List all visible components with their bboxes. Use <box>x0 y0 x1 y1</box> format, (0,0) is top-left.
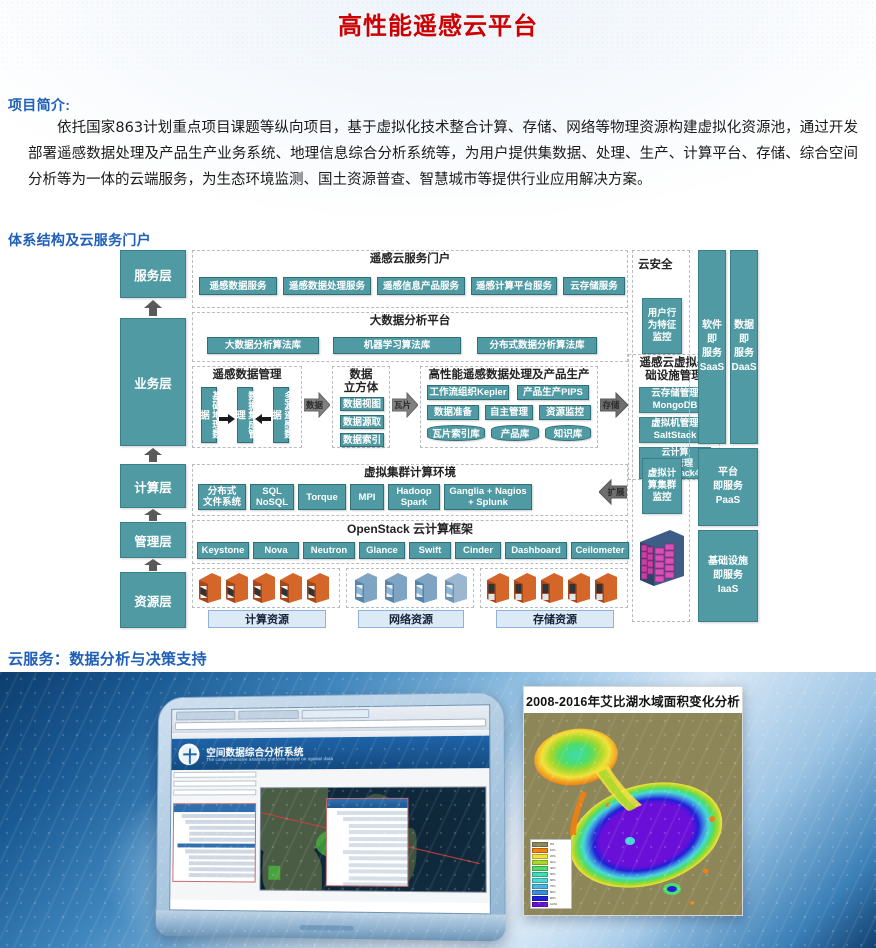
site-body <box>170 768 490 903</box>
openstack-chip-7[interactable]: Ceilometer <box>571 542 629 559</box>
daas-l2: 即 <box>739 333 749 347</box>
openstack-chip-0[interactable]: Keystone <box>197 542 249 559</box>
arrow-store: 存储 <box>600 392 628 418</box>
dialog-tree-row[interactable] <box>349 830 408 834</box>
hpc-title: 高性能遥感数据处理及产品生产 <box>421 367 597 382</box>
layer-tree-item[interactable] <box>189 832 255 836</box>
layer-management: 管理层 <box>120 522 186 558</box>
server-icon-compute-2 <box>253 573 275 608</box>
browser-chrome <box>172 705 489 739</box>
cluster-chip-5-l2: + Splunk <box>468 497 508 508</box>
layer-tree-header <box>174 804 255 812</box>
firewall-icon <box>640 530 684 591</box>
server-icon-storage-4 <box>595 573 617 608</box>
layer-tree-item-selected[interactable] <box>178 843 255 847</box>
server-icon-compute-4 <box>307 573 329 608</box>
filter-field-0[interactable] <box>173 772 256 778</box>
server-icon-network-1 <box>385 573 407 608</box>
layer-tree-item[interactable] <box>189 873 255 877</box>
site-header: 空间数据综合分析系统 The comprehensive analysis pl… <box>172 736 490 770</box>
layer-arrow-up-3 <box>142 509 164 521</box>
filter-field-1[interactable] <box>173 780 256 786</box>
arrow-extend: 扩展 <box>599 479 627 505</box>
cluster-chip-0[interactable]: 分布式 文件系统 <box>198 484 246 510</box>
security-chip-0-l3: 监控 <box>652 332 671 344</box>
data-mgmt-arrow-right <box>219 411 235 429</box>
cluster-chip-4-l2: Spark <box>401 497 427 508</box>
security-chip-1-l3: 监控 <box>652 492 671 504</box>
layer-tree-item[interactable] <box>189 855 255 859</box>
saas-l2: 即 <box>707 333 717 347</box>
arrow-store-label: 存储 <box>594 392 628 418</box>
browser-tab-0[interactable] <box>176 711 236 721</box>
dialog-tree-row[interactable] <box>343 882 408 887</box>
layer-tree-item[interactable] <box>185 820 255 824</box>
cluster-chip-5-l1: Ganglia + Nagios <box>449 486 526 497</box>
layer-resource: 资源层 <box>120 572 186 628</box>
iaas-l3: IaaS <box>718 583 739 597</box>
browser-tab-2[interactable] <box>302 709 370 719</box>
portal-chip-1[interactable]: 遥感数据处理服务 <box>283 277 371 295</box>
cluster-chip-0-l1: 分布式 <box>208 486 237 497</box>
legend-swatch <box>532 896 548 901</box>
legend-label: 20% <box>550 854 556 858</box>
data-mgmt-chip-1[interactable]: 数据集成管理 <box>237 387 253 443</box>
portal-chip-4[interactable]: 云存储服务 <box>563 277 625 295</box>
cluster-chip-3[interactable]: MPI <box>350 484 384 510</box>
dialog-tree-row[interactable] <box>349 863 408 867</box>
data-mgmt-arrow-left <box>255 411 271 429</box>
bigdata-chip-0[interactable]: 大数据分析算法库 <box>207 337 319 354</box>
security-chip-1-l1: 虚拟计 <box>648 468 677 480</box>
architecture-diagram: 服务层 业务层 计算层 管理层 资源层 遥感云服务门户 遥感数据服务 遥感数据处… <box>120 250 760 630</box>
server-icon-storage-0 <box>487 573 509 608</box>
storage-resource-label: 存储资源 <box>496 610 614 628</box>
layer-tree-item[interactable] <box>189 838 255 842</box>
daas-l4: DaaS <box>731 361 756 375</box>
layer-arrow-up-4 <box>142 559 164 571</box>
cluster-chip-2[interactable]: Torque <box>298 484 346 510</box>
cluster-chip-5[interactable]: Ganglia + Nagios + Splunk <box>444 484 532 510</box>
server-icon-storage-3 <box>568 573 590 608</box>
cluster-chip-0-l2: 文件系统 <box>203 497 241 508</box>
security-chip-1-l2: 算集群 <box>648 480 677 492</box>
iaas-l1: 基础设施 <box>708 555 748 569</box>
laptop-base <box>156 910 506 941</box>
legend-swatch <box>532 878 548 883</box>
service-model-saas[interactable]: 软件 即 服务 SaaS <box>698 250 726 444</box>
openstack-chip-6[interactable]: Dashboard <box>505 542 567 559</box>
portal-chip-3[interactable]: 遥感计算平台服务 <box>471 277 557 295</box>
hpc-chip-r2-1[interactable]: 自主管理 <box>485 405 533 420</box>
cube-chip-2[interactable]: 数据索引 <box>340 433 384 447</box>
cube-title-1: 数据 <box>333 367 389 382</box>
lake-analysis-title: 2008-2016年艾比湖水域面积变化分析 <box>524 687 742 713</box>
bigdata-chip-2[interactable]: 分布式数据分析算法库 <box>477 337 597 354</box>
map-highlight-polygon <box>268 866 280 880</box>
server-icon-compute-3 <box>280 573 302 608</box>
openstack-chip-4[interactable]: Swift <box>409 542 451 559</box>
hpc-chip-r2-2[interactable]: 资源监控 <box>539 405 591 420</box>
filter-field-2[interactable] <box>173 789 256 795</box>
hpc-store-0[interactable]: 瓦片索引库 <box>427 425 485 441</box>
service-model-iaas[interactable]: 基础设施 即服务 IaaS <box>698 530 758 622</box>
legend-label: 40% <box>550 866 556 870</box>
openstack-panel: OpenStack 云计算框架 Keystone Nova Neutron Gl… <box>192 520 628 564</box>
security-chip-0[interactable]: 用户行 为特征 监控 <box>642 298 682 354</box>
dialog-tree-row[interactable] <box>349 856 408 860</box>
compute-resource-label: 计算资源 <box>208 610 326 628</box>
site-subtitle: The comprehensive analysis platform base… <box>206 756 333 762</box>
openstack-chip-1[interactable]: Nova <box>253 542 299 559</box>
cube-title-2: 立方体 <box>333 382 389 395</box>
cloud-service-heading: 云服务：数据分析与决策支持 <box>8 648 207 669</box>
legend-swatch <box>532 848 548 853</box>
dialog-tree-row[interactable] <box>349 837 408 841</box>
legend-swatch <box>532 902 548 907</box>
service-model-paas[interactable]: 平台 即服务 PaaS <box>698 448 758 526</box>
data-mgmt-chip-2[interactable]: 多源遥感数据 <box>273 387 289 443</box>
legend-swatch <box>532 884 548 889</box>
legend-label: 60% <box>550 878 556 882</box>
openstack-chip-5[interactable]: Cinder <box>455 542 501 559</box>
browser-tab-1[interactable] <box>238 710 298 720</box>
paas-l3: PaaS <box>716 494 740 508</box>
layer-compute: 计算层 <box>120 464 186 508</box>
legend-label: 30% <box>550 860 556 864</box>
data-mgmt-chip-0[interactable]: 基础地理数据 <box>201 387 217 443</box>
intro-heading: 项目简介: <box>8 95 70 115</box>
paas-l2: 即服务 <box>713 480 743 494</box>
bigdata-title: 大数据分析平台 <box>193 313 627 328</box>
data-management-title: 遥感数据管理 <box>193 367 301 382</box>
legend-label: 50% <box>550 872 556 876</box>
lake-analysis-card: 2008-2016年艾比湖水域面积变化分析 <box>523 686 743 916</box>
layer-tree-item[interactable] <box>189 867 255 871</box>
layer-business: 业务层 <box>120 318 186 446</box>
hpc-store-1[interactable]: 产品库 <box>491 425 539 441</box>
security-chip-0-l1: 用户行 <box>648 308 677 320</box>
dialog-tree-row[interactable] <box>343 817 407 821</box>
layer-tree-item[interactable] <box>189 861 255 865</box>
legend-label: 100% <box>550 902 557 906</box>
hpc-panel: 高性能遥感数据处理及产品生产 工作流组织Kepler 产品生产PIPS 数据准备… <box>420 366 598 448</box>
layer-tree-item[interactable] <box>189 826 255 830</box>
server-icon-storage-1 <box>514 573 536 608</box>
layer-tree-item[interactable] <box>182 814 255 818</box>
server-icon-storage-2 <box>541 573 563 608</box>
legend-swatch <box>532 890 548 895</box>
architecture-heading: 体系结构及云服务门户 <box>8 230 151 250</box>
server-icon-compute-1 <box>226 573 248 608</box>
server-icon-network-2 <box>415 573 437 608</box>
cube-panel: 数据 立方体 数据视图 数据源取 数据索引 <box>332 366 390 448</box>
lake-analysis-image: 0% 10% 20% 30% 40% 50% 60% 70% 80% 90% 1… <box>524 713 742 915</box>
laptop-screen: 空间数据综合分析系统 The comprehensive analysis pl… <box>169 704 491 914</box>
daas-l1: 数据 <box>734 319 754 333</box>
intro-body: 依托国家863计划重点项目课题等纵向项目，基于虚拟化技术整合计算、存储、网络等物… <box>28 115 858 193</box>
laptop-trackpad <box>300 925 354 931</box>
legend-swatch <box>532 866 548 871</box>
saas-l3: 服务 <box>702 347 722 361</box>
arrow-tile: 瓦片 <box>392 392 418 418</box>
bigdata-chip-1[interactable]: 机器学习算法库 <box>333 337 461 354</box>
slide-page: 高性能遥感云平台 项目简介: 依托国家863计划重点项目课题等纵向项目，基于虚拟… <box>0 0 876 948</box>
layer-tree-panel[interactable] <box>172 803 256 882</box>
output-dialog[interactable] <box>326 798 409 887</box>
legend-label: 10% <box>550 848 556 852</box>
saas-l1: 软件 <box>702 319 722 333</box>
cluster-title: 虚拟集群计算环境 <box>193 465 627 480</box>
legend-label: 70% <box>550 884 556 888</box>
dialog-tree-row[interactable] <box>349 876 408 881</box>
layer-service: 服务层 <box>120 250 186 298</box>
server-icon-compute-0 <box>199 573 221 608</box>
server-icon-network-0 <box>355 573 377 608</box>
output-dialog-header <box>327 799 407 808</box>
saas-l4: SaaS <box>700 361 724 375</box>
cube-chip-0[interactable]: 数据视图 <box>340 397 384 411</box>
portal-chip-0[interactable]: 遥感数据服务 <box>199 277 277 295</box>
layer-arrow-up-2 <box>142 448 164 462</box>
map-canvas[interactable] <box>259 786 486 892</box>
page-title: 高性能遥感云平台 <box>0 6 876 41</box>
cluster-panel: 虚拟集群计算环境 分布式 文件系统 SQL NoSQL Torque MPI H… <box>192 464 628 516</box>
layer-column: 服务层 业务层 计算层 管理层 资源层 <box>120 250 186 630</box>
cluster-chip-4[interactable]: Hadoop Spark <box>388 484 440 510</box>
hpc-chip-r1-1[interactable]: 产品生产PIPS <box>517 385 589 400</box>
network-resource-label: 网络资源 <box>358 610 464 628</box>
legend-row: 100% <box>532 901 570 907</box>
dialog-tree-row[interactable] <box>349 869 408 873</box>
arrow-tile-label: 瓦片 <box>387 392 418 418</box>
cube-chip-1[interactable]: 数据源取 <box>340 415 384 429</box>
layer-arrow-up-1 <box>142 300 164 316</box>
openstack-chip-2[interactable]: Neutron <box>303 542 355 559</box>
arrow-data-label: 数据 <box>299 392 330 418</box>
layer-tree-item[interactable] <box>185 849 255 853</box>
dialog-tree-row[interactable] <box>337 810 407 814</box>
browser-tabs <box>176 709 369 720</box>
cloud-security-title: 云安全 <box>638 256 673 272</box>
dialog-tree-row[interactable] <box>349 843 408 847</box>
hpc-store-2[interactable]: 知识库 <box>545 425 591 441</box>
cluster-chip-1-l2: NoSQL <box>256 497 288 508</box>
arrow-extend-label: 扩展 <box>605 479 627 505</box>
showcase-band: 空间数据综合分析系统 The comprehensive analysis pl… <box>0 672 876 948</box>
daas-l3: 服务 <box>734 347 754 361</box>
cluster-chip-4-l1: Hadoop <box>396 486 431 497</box>
legend-swatch <box>532 860 548 865</box>
iaas-l2: 即服务 <box>713 569 743 583</box>
portal-title: 遥感云服务门户 <box>193 251 627 266</box>
data-management-panel: 遥感数据管理 基础地理数据 数据集成管理 多源遥感数据 <box>192 366 302 448</box>
server-icon-network-3 <box>445 573 467 608</box>
dialog-tree-row[interactable] <box>349 824 407 828</box>
laptop-mockup: 空间数据综合分析系统 The comprehensive analysis pl… <box>156 692 506 942</box>
paas-l1: 平台 <box>718 466 738 480</box>
site-logo-icon <box>178 744 199 766</box>
bigdata-panel: 大数据分析平台 大数据分析算法库 机器学习算法库 分布式数据分析算法库 <box>192 312 628 362</box>
legend-label: 90% <box>550 896 556 900</box>
compute-resource-panel <box>192 568 340 608</box>
legend-label: 80% <box>550 890 556 894</box>
hpc-chip-r2-0[interactable]: 数据准备 <box>427 405 479 420</box>
portal-chip-2[interactable]: 遥感信息产品服务 <box>377 277 465 295</box>
legend-label: 0% <box>550 842 554 846</box>
lake-legend: 0% 10% 20% 30% 40% 50% 60% 70% 80% 90% 1… <box>530 839 572 909</box>
cluster-chip-1-l1: SQL <box>262 486 282 497</box>
legend-swatch <box>532 872 548 877</box>
arrow-data: 数据 <box>304 392 330 418</box>
hpc-chip-r1-0[interactable]: 工作流组织Kepler <box>427 385 509 400</box>
storage-resource-panel <box>480 568 628 608</box>
filter-form <box>173 772 256 800</box>
security-chip-1[interactable]: 虚拟计 算集群 监控 <box>642 458 682 514</box>
openstack-chip-3[interactable]: Glance <box>359 542 405 559</box>
portal-panel: 遥感云服务门户 遥感数据服务 遥感数据处理服务 遥感信息产品服务 遥感计算平台服… <box>192 250 628 308</box>
openstack-title: OpenStack 云计算框架 <box>193 521 627 536</box>
security-chip-0-l2: 为特征 <box>648 320 677 332</box>
legend-swatch <box>532 854 548 859</box>
legend-swatch <box>532 842 548 847</box>
service-model-daas[interactable]: 数据 即 服务 DaaS <box>730 250 758 444</box>
dialog-tree-row[interactable] <box>343 850 408 854</box>
network-resource-panel <box>346 568 474 608</box>
cluster-chip-1[interactable]: SQL NoSQL <box>250 484 294 510</box>
